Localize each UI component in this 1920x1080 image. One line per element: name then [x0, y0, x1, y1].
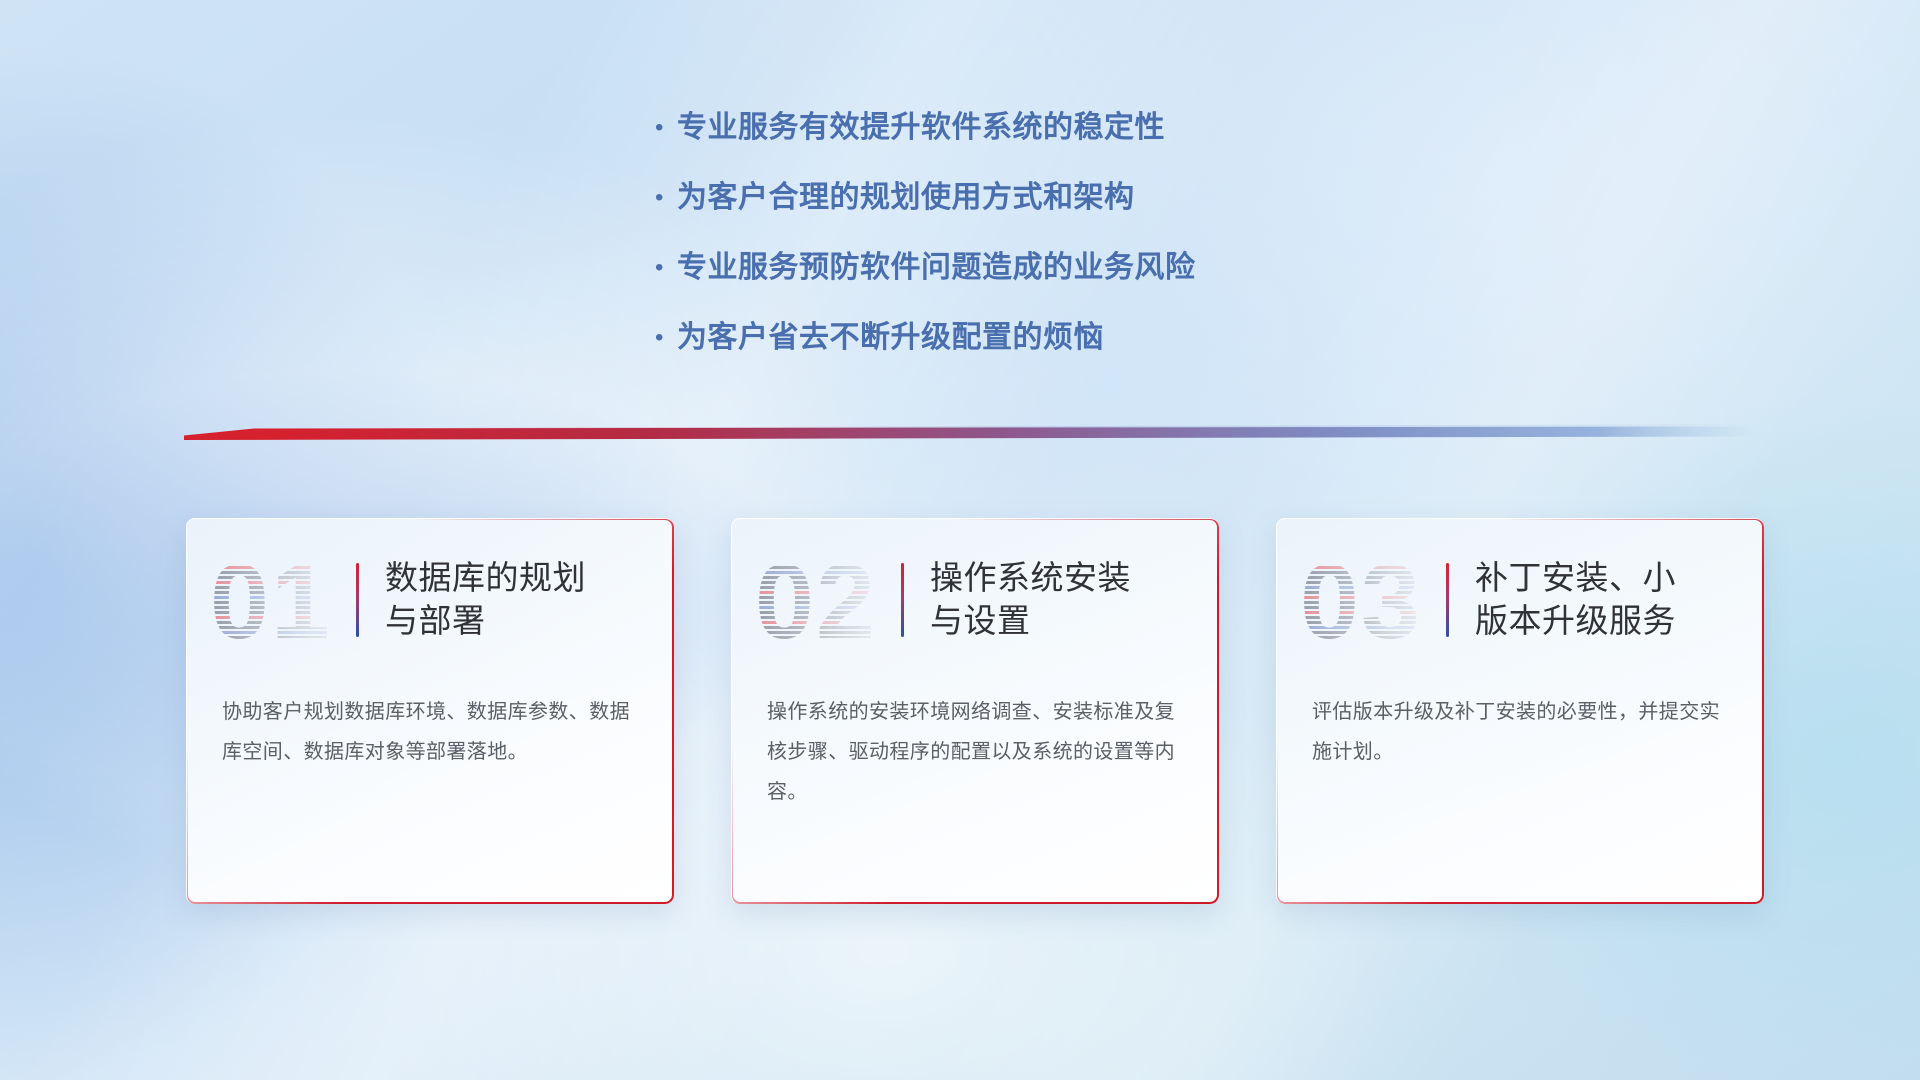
card-title-rule	[1446, 563, 1449, 637]
section-divider	[184, 421, 1756, 443]
bullet-text: 专业服务有效提升软件系统的稳定性	[677, 108, 1165, 147]
service-card[interactable]: 03	[1276, 518, 1764, 904]
card-grid: 01	[186, 518, 1764, 904]
striped-number-graphic: 02	[753, 546, 893, 654]
service-card[interactable]: 01	[186, 518, 674, 904]
card-title-rule	[356, 563, 359, 637]
bullet-dot-icon: •	[655, 326, 677, 350]
card-title-rule	[901, 563, 904, 637]
list-item: • 为客户合理的规划使用方式和架构	[655, 178, 1196, 217]
list-item: • 为客户省去不断升级配置的烦恼	[655, 318, 1196, 357]
bullet-list: • 专业服务有效提升软件系统的稳定性 • 为客户合理的规划使用方式和架构 • 专…	[655, 108, 1196, 388]
striped-number-graphic: 03	[1298, 546, 1438, 654]
card-number-01: 01	[208, 546, 348, 654]
bullet-dot-icon: •	[655, 116, 677, 140]
card-number-02: 02	[753, 546, 893, 654]
list-item: • 专业服务有效提升软件系统的稳定性	[655, 108, 1196, 147]
service-card[interactable]: 02	[731, 518, 1219, 904]
striped-number-graphic: 01	[208, 546, 348, 654]
list-item: • 专业服务预防软件问题造成的业务风险	[655, 248, 1196, 287]
bullet-text: 专业服务预防软件问题造成的业务风险	[677, 248, 1196, 287]
card-body-text: 协助客户规划数据库环境、数据库参数、数据库空间、数据库对象等部署落地。	[186, 658, 674, 772]
card-header: 02	[731, 518, 1219, 658]
card-title: 数据库的规划 与部署	[385, 557, 586, 643]
card-header: 03	[1276, 518, 1764, 658]
bullet-text: 为客户合理的规划使用方式和架构	[677, 178, 1135, 217]
card-title: 补丁安装、小 版本升级服务	[1475, 557, 1676, 643]
divider-shape	[184, 421, 1756, 443]
card-body-text: 评估版本升级及补丁安装的必要性，并提交实施计划。	[1276, 658, 1764, 772]
card-title: 操作系统安装 与设置	[930, 557, 1131, 643]
bullet-dot-icon: •	[655, 186, 677, 210]
bullet-dot-icon: •	[655, 256, 677, 280]
card-number-03: 03	[1298, 546, 1438, 654]
card-body-text: 操作系统的安装环境网络调查、安装标准及复核步骤、驱动程序的配置以及系统的设置等内…	[731, 658, 1219, 812]
card-header: 01	[186, 518, 674, 658]
slide-root: • 专业服务有效提升软件系统的稳定性 • 为客户合理的规划使用方式和架构 • 专…	[0, 0, 1920, 1080]
bullet-text: 为客户省去不断升级配置的烦恼	[677, 318, 1104, 357]
